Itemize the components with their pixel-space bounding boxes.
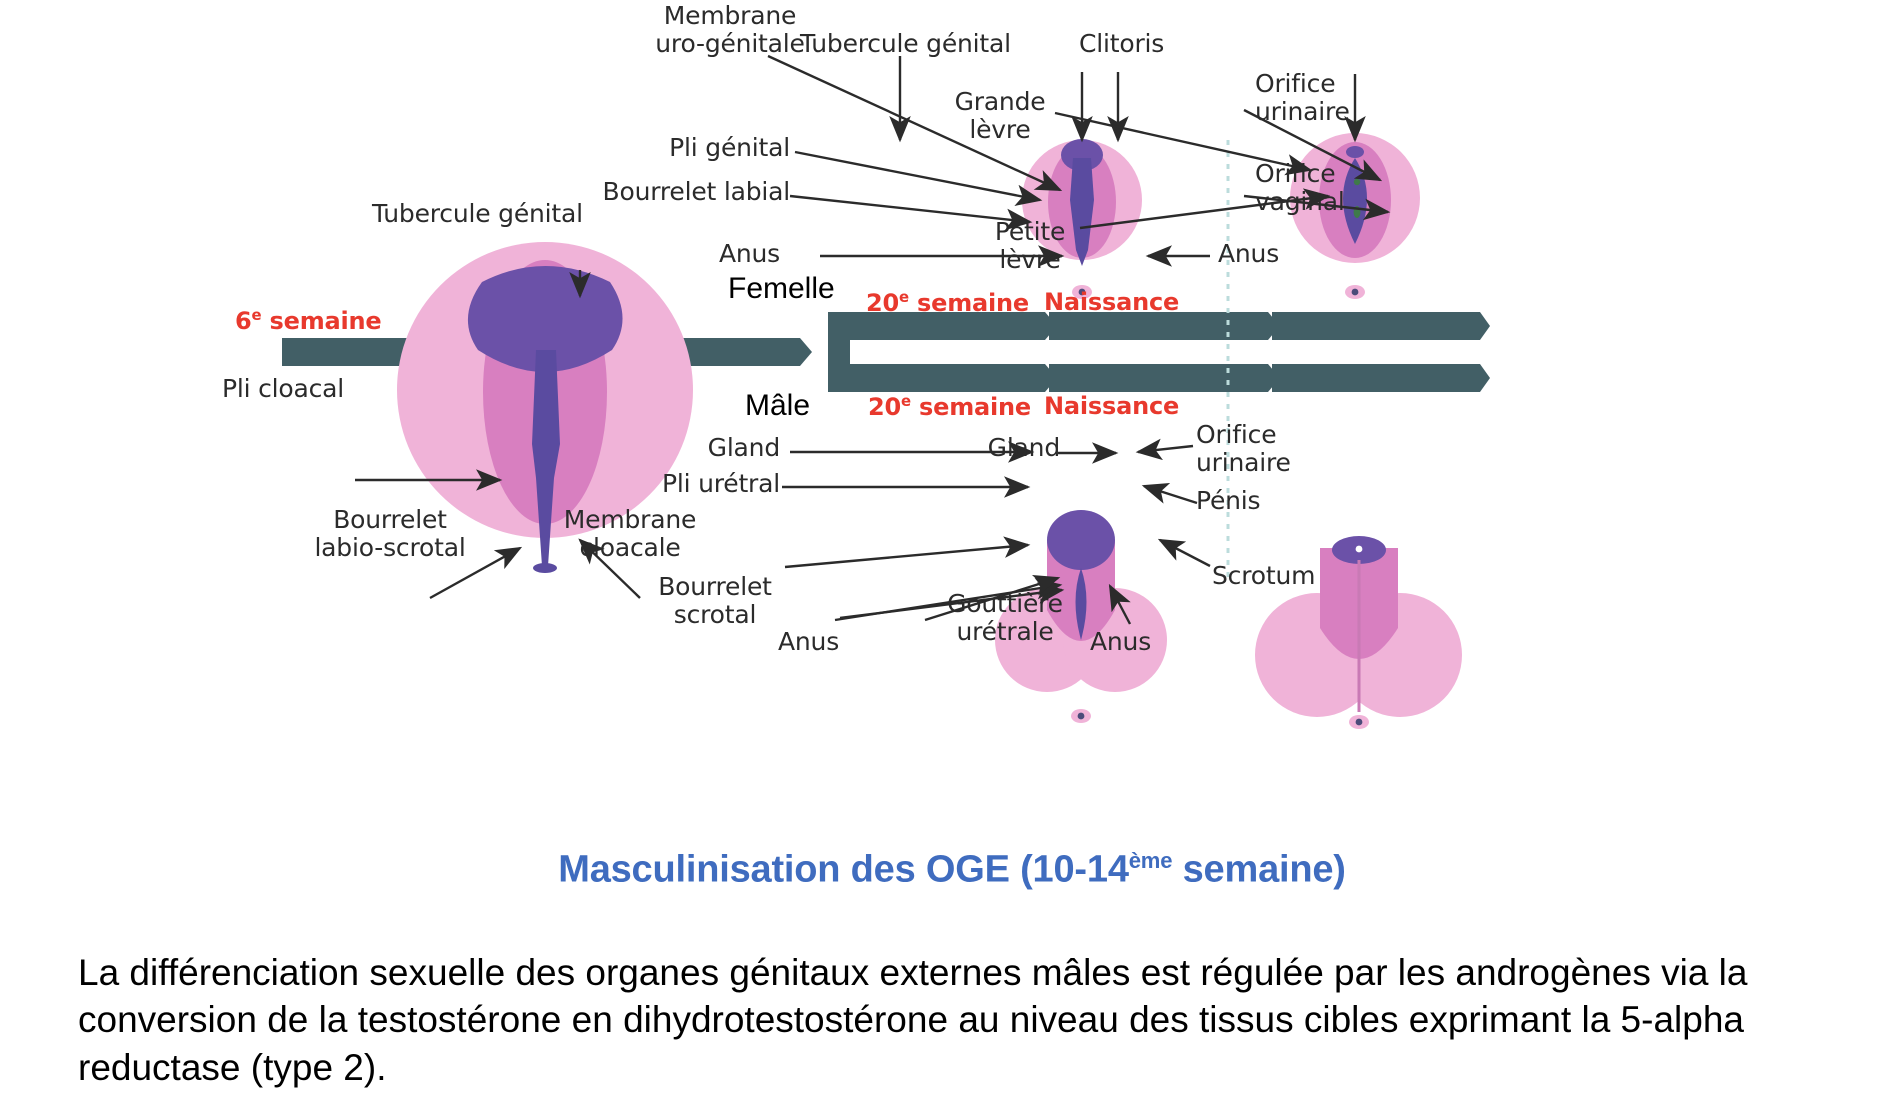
- label-bourrelet-labial: Bourrelet labial: [510, 178, 790, 206]
- label-bourrelet-labio-scrotal: Bourreletlabio-scrotal: [280, 506, 500, 562]
- label-anus-male-birth: Anus: [1090, 628, 1151, 656]
- stage-label-20e-semaine-male: 20e semaine: [868, 392, 1031, 421]
- label-pli-uretral: Pli urétral: [580, 470, 780, 498]
- label-membrane-cloacale: Membranecloacale: [520, 506, 740, 562]
- label-gland-male20: Gland: [620, 434, 780, 462]
- label-anus-male20: Anus: [778, 628, 839, 656]
- label-orifice-vaginal: Orificevaginal: [1255, 160, 1345, 216]
- label-tubercule-genital-female20: Tubercule génital: [800, 30, 1011, 58]
- label-clitoris: Clitoris: [1079, 30, 1164, 58]
- label-petite-levre: Petitelèvre: [960, 218, 1100, 274]
- label-scrotum: Scrotum: [1212, 562, 1315, 590]
- label-pli-cloacal: Pli cloacal: [222, 375, 344, 403]
- label-anus-female20: Anus: [640, 240, 780, 268]
- label-male: Mâle: [745, 389, 810, 423]
- label-anus-female-birth: Anus: [1218, 240, 1279, 268]
- label-gland-male-birth: Gland: [930, 434, 1060, 462]
- label-femelle: Femelle: [728, 272, 835, 306]
- label-orifice-urinaire-male: Orificeurinaire: [1196, 421, 1291, 477]
- label-pli-genital: Pli génital: [540, 134, 790, 162]
- female-birth-illustration: [1290, 133, 1420, 299]
- stage-label-20e-semaine-female: 20e semaine: [866, 288, 1029, 317]
- stage-label-naissance-female: Naissance: [1044, 288, 1179, 316]
- development-diagram: 6e semaine Tubercule génital Pli cloacal…: [0, 0, 1904, 860]
- label-penis: Pénis: [1196, 487, 1260, 515]
- description-paragraph: La différenciation sexuelle des organes …: [78, 949, 1838, 1091]
- label-bourrelet-scrotal: Bourreletscrotal: [630, 573, 800, 629]
- label-gouttiere-uretrale: Gouttièreurétrale: [915, 590, 1095, 646]
- label-orifice-urinaire-female: Orificeurinaire: [1255, 70, 1350, 126]
- stage-label-6e-semaine: 6e semaine: [235, 306, 382, 335]
- stage-label-naissance-male: Naissance: [1044, 392, 1179, 420]
- label-grande-levre: Grandelèvre: [930, 88, 1070, 144]
- figure-title: Masculinisation des OGE (10-14ème semain…: [0, 848, 1904, 892]
